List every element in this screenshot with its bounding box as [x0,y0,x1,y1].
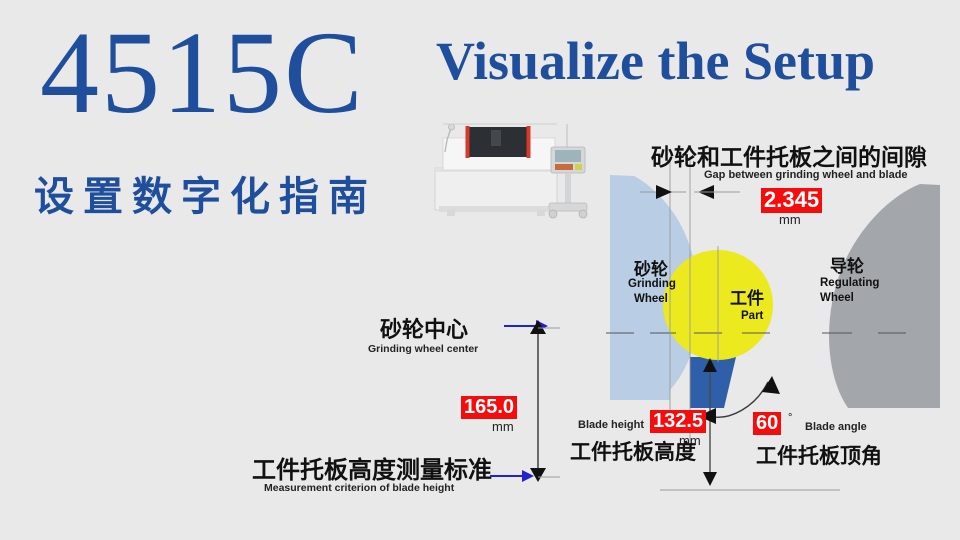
blade-height-label-cn: 工件托板高度 [570,436,696,466]
blade-angle-badge: 60 [753,412,781,435]
gap-value-unit: mm [779,212,801,227]
blade-height-label-en: Blade height [578,419,644,431]
headline: Visualize the Setup [436,30,875,92]
blade-height-badge: 132.5 [650,410,706,433]
blade-angle-label-en: Blade angle [805,421,867,433]
center-height-unit: mm [492,419,514,434]
measurement-criterion-label-cn: 工件托板高度测量标准 [252,450,492,485]
grinding-wheel-label-en-1: Grinding [628,278,676,291]
regulating-wheel-label-en-2: Wheel [820,292,854,305]
gap-callout-title-cn: 砂轮和工件托板之间的间隙 [651,138,927,172]
blade-angle-unit: ° [788,412,792,424]
wheel-center-label-en: Grinding wheel center [368,343,478,355]
regulating-wheel-label-en-1: Regulating [820,277,879,290]
measurement-criterion-label-en: Measurement criterion of blade height [264,482,454,494]
center-height-badge: 165.0 [461,396,517,419]
page-title: 4515C [40,14,365,132]
wheel-center-label-cn: 砂轮中心 [380,312,468,344]
grinding-wheel-label-en-2: Wheel [634,293,668,306]
grinding-wheel-label-cn: 砂轮 [634,255,668,280]
page-subtitle: 设置数字化指南 [34,164,377,222]
blade-angle-label-cn: 工件托板顶角 [756,440,882,470]
center-height-dimension [520,318,560,488]
part-label-cn: 工件 [730,284,764,309]
slide-canvas: 4515C 设置数字化指南 Visualize the Setup [0,0,960,540]
part-label-en: Part [741,310,763,323]
gap-callout-title-en: Gap between grinding wheel and blade [704,169,908,181]
gap-value-badge: 2.345 [761,188,822,213]
regulating-wheel-label-cn: 导轮 [830,252,864,277]
